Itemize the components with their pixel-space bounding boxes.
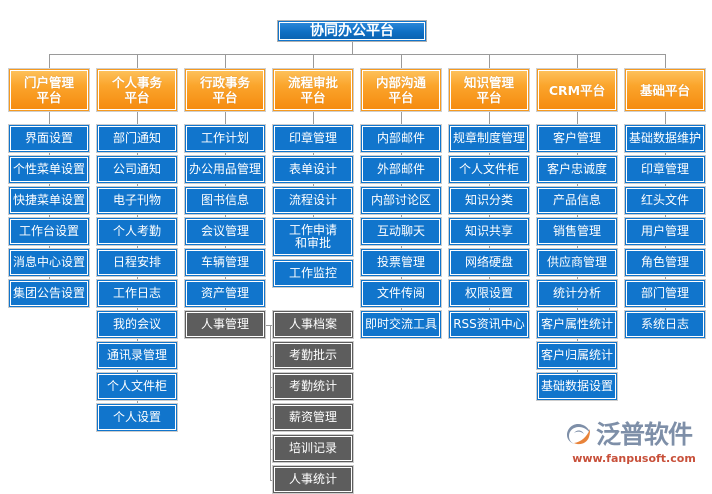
node-label: 个性菜单设置 [13,163,85,176]
node-label: 平台 [212,90,237,105]
node-label: 平台 [124,90,149,105]
leaf-process-approval-3[interactable]: 工作申请和审批 [272,217,354,257]
platform-header-knowledge[interactable]: 知识管理平台 [448,68,530,112]
platform-header-personal-affairs[interactable]: 个人事务平台 [96,68,178,112]
leaf-basic-2[interactable]: 红头文件 [624,186,706,215]
hr-child-5[interactable]: 人事统计 [272,465,354,494]
leaf-basic-1[interactable]: 印章管理 [624,155,706,184]
root-title-node[interactable]: 协同办公平台 [277,20,427,42]
node-label: 和审批 [295,237,331,250]
leaf-portal-0[interactable]: 界面设置 [8,124,90,153]
leaf-crm-1[interactable]: 客户忠诚度 [536,155,618,184]
node-label: 车辆管理 [201,256,249,269]
node-label: CRM平台 [549,83,605,98]
leaf-knowledge-4[interactable]: 网络硬盘 [448,248,530,277]
hr-child-1[interactable]: 考勤批示 [272,341,354,370]
node-label: 通讯录管理 [107,349,167,362]
platform-header-crm[interactable]: CRM平台 [536,68,618,112]
platform-header-process-approval[interactable]: 流程审批平台 [272,68,354,112]
leaf-internal-comm-1[interactable]: 外部邮件 [360,155,442,184]
leaf-knowledge-0[interactable]: 规章制度管理 [448,124,530,153]
node-label: 内部邮件 [377,132,425,145]
node-label: 客户管理 [553,132,601,145]
drop-line-crm [577,54,578,68]
leaf-personal-affairs-0[interactable]: 部门通知 [96,124,178,153]
leaf-knowledge-6[interactable]: RSS资讯中心 [448,310,530,339]
node-label: 规章制度管理 [453,132,525,145]
leaf-crm-4[interactable]: 供应商管理 [536,248,618,277]
leaf-basic-3[interactable]: 用户管理 [624,217,706,246]
node-label: 日程安排 [113,256,161,269]
node-label: 基础平台 [640,83,690,98]
node-label: 个人事务 [112,75,162,90]
node-label: 个人考勤 [113,225,161,238]
node-label: 知识管理 [464,75,514,90]
node-label: 工作计划 [201,132,249,145]
leaf-internal-comm-4[interactable]: 投票管理 [360,248,442,277]
node-label: 快捷菜单设置 [13,194,85,207]
leaf-crm-5[interactable]: 统计分析 [536,279,618,308]
node-label: 客户属性统计 [541,318,613,331]
leaf-internal-comm-2[interactable]: 内部讨论区 [360,186,442,215]
leaf-personal-affairs-2[interactable]: 电子刊物 [96,186,178,215]
node-label: 我的会议 [113,318,161,331]
leaf-personal-affairs-1[interactable]: 公司通知 [96,155,178,184]
drop-line-internal-comm [401,54,402,68]
node-label: 资产管理 [201,287,249,300]
leaf-personal-affairs-8[interactable]: 个人文件柜 [96,372,178,401]
leaf-process-approval-2[interactable]: 流程设计 [272,186,354,215]
drop-line-basic [665,54,666,68]
hr-child-4[interactable]: 培训记录 [272,434,354,463]
node-label: 权限设置 [465,287,513,300]
node-label: 内部沟通 [376,75,426,90]
leaf-process-approval-4[interactable]: 工作监控 [272,259,354,288]
leaf-admin-affairs-4[interactable]: 车辆管理 [184,248,266,277]
node-label: 红头文件 [641,194,689,207]
platform-header-internal-comm[interactable]: 内部沟通平台 [360,68,442,112]
drop-line-admin-affairs [225,54,226,68]
node-label: 互动聊天 [377,225,425,238]
swoosh-logo-icon [564,421,594,449]
node-label: 个人设置 [113,411,161,424]
leaf-personal-affairs-6[interactable]: 我的会议 [96,310,178,339]
node-label: 基础数据设置 [541,380,613,393]
drop-line-process-approval [313,54,314,68]
node-label: 即时交流工具 [365,318,437,331]
node-label: 工作日志 [113,287,161,300]
node-label: 工作台设置 [19,225,79,238]
node-label: 销售管理 [553,225,601,238]
leaf-personal-affairs-9[interactable]: 个人设置 [96,403,178,432]
leaf-portal-5[interactable]: 集团公告设置 [8,279,90,308]
leaf-personal-affairs-4[interactable]: 日程安排 [96,248,178,277]
drop-line-personal-affairs [137,54,138,68]
node-label: 平台 [300,90,325,105]
node-label: 个人文件柜 [459,163,519,176]
leaf-admin-affairs-5[interactable]: 资产管理 [184,279,266,308]
node-label: 行政事务 [200,75,250,90]
node-label: 平台 [36,90,61,105]
leaf-admin-affairs-2[interactable]: 图书信息 [184,186,266,215]
node-label: 平台 [388,90,413,105]
leaf-portal-3[interactable]: 工作台设置 [8,217,90,246]
leaf-basic-4[interactable]: 角色管理 [624,248,706,277]
node-label: 系统日志 [641,318,689,331]
node-label: RSS资讯中心 [453,318,525,331]
trunk-line [352,42,353,54]
leaf-basic-6[interactable]: 系统日志 [624,310,706,339]
node-label: 部门管理 [641,287,689,300]
leaf-knowledge-2[interactable]: 知识分类 [448,186,530,215]
leaf-admin-affairs-3[interactable]: 会议管理 [184,217,266,246]
leaf-portal-2[interactable]: 快捷菜单设置 [8,186,90,215]
node-label: 个人文件柜 [107,380,167,393]
leaf-personal-affairs-3[interactable]: 个人考勤 [96,217,178,246]
leaf-internal-comm-3[interactable]: 互动聊天 [360,217,442,246]
node-label: 界面设置 [25,132,73,145]
node-label: 投票管理 [377,256,425,269]
node-label: 消息中心设置 [13,256,85,269]
node-label: 人事档案 [289,318,337,331]
leaf-crm-0[interactable]: 客户管理 [536,124,618,153]
leaf-portal-4[interactable]: 消息中心设置 [8,248,90,277]
brand-name: 泛普软件 [596,421,692,449]
node-label: 表单设计 [289,163,337,176]
node-label: 知识分类 [465,194,513,207]
hr-parent-to-elbow [266,325,270,326]
platform-header-portal[interactable]: 门户管理平台 [8,68,90,112]
leaf-personal-affairs-7[interactable]: 通讯录管理 [96,341,178,370]
node-label: 流程设计 [289,194,337,207]
leaf-basic-5[interactable]: 部门管理 [624,279,706,308]
node-label: 统计分析 [553,287,601,300]
node-label: 内部讨论区 [371,194,431,207]
node-label: 薪资管理 [289,411,337,424]
node-label: 部门通知 [113,132,161,145]
leaf-crm-8[interactable]: 基础数据设置 [536,372,618,401]
node-label: 外部邮件 [377,163,425,176]
hr-child-0[interactable]: 人事档案 [272,310,354,339]
node-label: 门户管理 [24,75,74,90]
node-label: 供应商管理 [547,256,607,269]
node-label: 网络硬盘 [465,256,513,269]
leaf-portal-1[interactable]: 个性菜单设置 [8,155,90,184]
leaf-admin-affairs-0[interactable]: 工作计划 [184,124,266,153]
platform-header-basic[interactable]: 基础平台 [624,68,706,112]
node-label: 流程审批 [288,75,338,90]
node-label: 图书信息 [201,194,249,207]
node-label: 客户归属统计 [541,349,613,362]
node-label: 公司通知 [113,163,161,176]
node-label: 考勤统计 [289,380,337,393]
node-label: 电子刊物 [113,194,161,207]
node-label: 会议管理 [201,225,249,238]
leaf-internal-comm-0[interactable]: 内部邮件 [360,124,442,153]
leaf-crm-2[interactable]: 产品信息 [536,186,618,215]
org-chart-canvas: 协同办公平台门户管理平台界面设置个性菜单设置快捷菜单设置工作台设置消息中心设置集… [0,0,712,475]
leaf-knowledge-1[interactable]: 个人文件柜 [448,155,530,184]
leaf-process-approval-0[interactable]: 印章管理 [272,124,354,153]
node-label: 知识共享 [465,225,513,238]
node-label: 角色管理 [641,256,689,269]
drop-line-knowledge [489,54,490,68]
platform-header-admin-affairs[interactable]: 行政事务平台 [184,68,266,112]
brand-logo: 泛普软件 www.fanpusoft.com [564,419,704,469]
brand-url: www.fanpusoft.com [564,452,704,465]
node-label: 用户管理 [641,225,689,238]
node-label: 产品信息 [553,194,601,207]
hr-child-link-5 [270,480,272,481]
node-label: 考勤批示 [289,349,337,362]
leaf-crm-3[interactable]: 销售管理 [536,217,618,246]
node-label: 集团公告设置 [13,287,85,300]
node-label: 办公用品管理 [189,163,261,176]
node-label: 协同办公平台 [310,25,394,38]
node-label: 培训记录 [289,442,337,455]
node-label: 基础数据维护 [629,132,701,145]
leaf-process-approval-1[interactable]: 表单设计 [272,155,354,184]
leaf-crm-6[interactable]: 客户属性统计 [536,310,618,339]
node-label: 文件传阅 [377,287,425,300]
header-bus-line [49,54,665,55]
leaf-admin-affairs-1[interactable]: 办公用品管理 [184,155,266,184]
hr-child-3[interactable]: 薪资管理 [272,403,354,432]
leaf-personal-affairs-5[interactable]: 工作日志 [96,279,178,308]
hr-child-2[interactable]: 考勤统计 [272,372,354,401]
drop-line-portal [49,54,50,68]
hr-elbow-spine [270,325,271,480]
node-label: 平台 [476,90,501,105]
node-label: 印章管理 [289,132,337,145]
hr-parent-node[interactable]: 人事管理 [184,310,266,339]
node-label: 客户忠诚度 [547,163,607,176]
leaf-knowledge-3[interactable]: 知识共享 [448,217,530,246]
node-label: 工作监控 [289,267,337,280]
node-label: 印章管理 [641,163,689,176]
leaf-internal-comm-6[interactable]: 即时交流工具 [360,310,442,339]
leaf-internal-comm-5[interactable]: 文件传阅 [360,279,442,308]
leaf-knowledge-5[interactable]: 权限设置 [448,279,530,308]
node-label: 人事管理 [201,318,249,331]
leaf-crm-7[interactable]: 客户归属统计 [536,341,618,370]
leaf-basic-0[interactable]: 基础数据维护 [624,124,706,153]
